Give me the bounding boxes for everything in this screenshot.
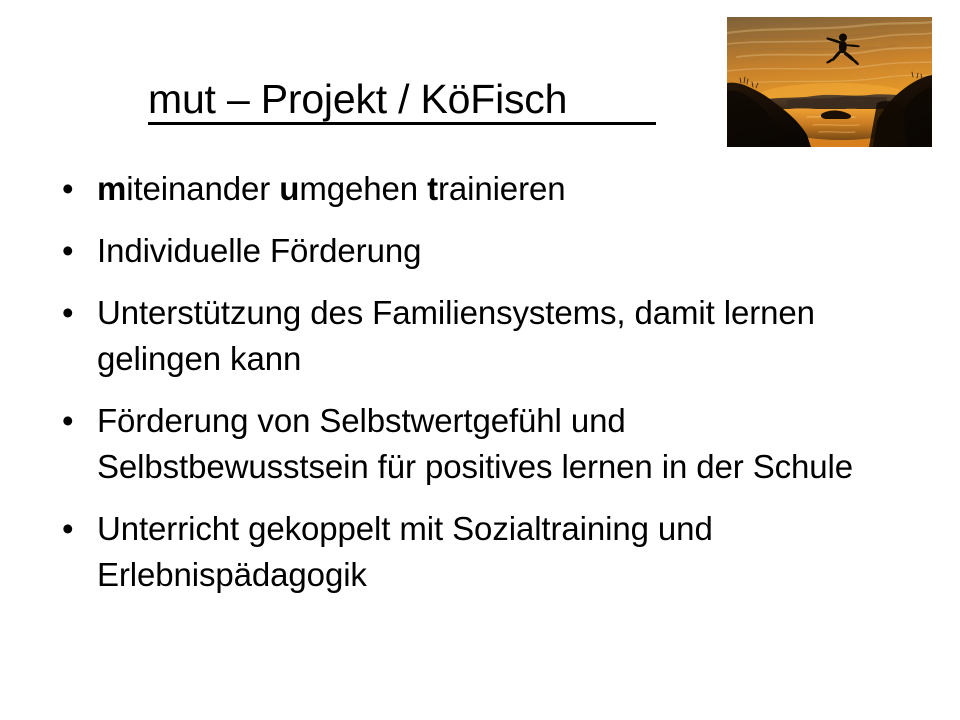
bullet-list: • miteinander umgehen trainieren • Indiv… <box>58 166 938 614</box>
bullet-1-bold-u: u <box>279 170 299 207</box>
bullet-text-5: Unterricht gekoppelt mit Sozialtraining … <box>97 506 897 598</box>
bullet-glyph: • <box>58 506 97 552</box>
bullet-text-4: Förderung von Selbstwertgefühl und Selbs… <box>97 398 897 490</box>
bullet-glyph: • <box>58 290 97 336</box>
list-item: • Individuelle Förderung <box>58 228 938 274</box>
bullet-1-bold-m: m <box>97 170 126 207</box>
list-item: • Förderung von Selbstwertgefühl und Sel… <box>58 398 938 490</box>
bullet-text-2: Individuelle Förderung <box>97 228 697 274</box>
jumping-person-sunset-photo <box>727 17 932 147</box>
bullet-1-part-1: iteinander <box>126 170 279 207</box>
slide-title: mut – Projekt / KöFisch <box>148 76 567 122</box>
list-item: • miteinander umgehen trainieren <box>58 166 938 212</box>
bullet-1-part-2: mgehen <box>299 170 427 207</box>
bullet-glyph: • <box>58 166 97 212</box>
bullet-1-part-3: rainieren <box>438 170 566 207</box>
title-underline <box>148 122 656 125</box>
list-item: • Unterstützung des Familiensystems, dam… <box>58 290 938 382</box>
bullet-text-3: Unterstützung des Familiensystems, damit… <box>97 290 887 382</box>
list-item: • Unterricht gekoppelt mit Sozialtrainin… <box>58 506 938 598</box>
presentation-slide: mut – Projekt / KöFisch <box>0 0 960 720</box>
bullet-glyph: • <box>58 228 97 274</box>
bullet-1-bold-t: t <box>427 170 438 207</box>
bullet-glyph: • <box>58 398 97 444</box>
photo-artwork <box>727 17 932 147</box>
bullet-text-1: miteinander umgehen trainieren <box>97 166 697 212</box>
